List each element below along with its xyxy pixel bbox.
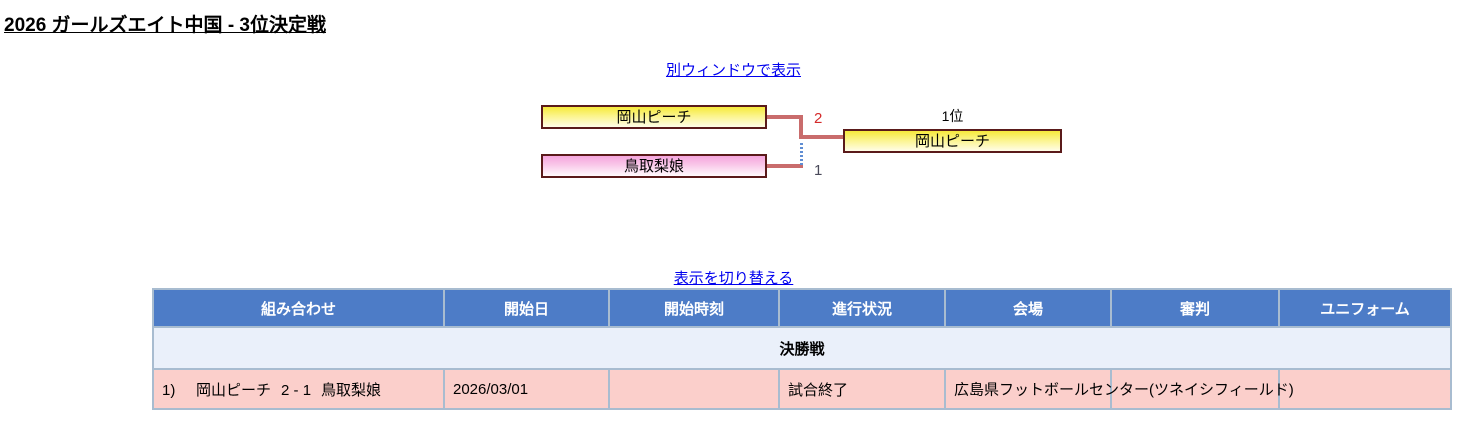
open-new-window-link-wrap: 別ウィンドウで表示 xyxy=(0,59,1467,80)
bracket-connector-top xyxy=(767,115,803,119)
cell-pairing: 1)岡山ピーチ2 - 1鳥取梨娘 xyxy=(154,370,443,408)
bracket-connector-bottom xyxy=(767,164,803,168)
column-header-pairing[interactable]: 組み合わせ xyxy=(154,290,443,326)
bracket-connector-middle xyxy=(799,135,843,139)
cell-start-date: 2026/03/01 xyxy=(445,370,608,408)
column-header-referee[interactable]: 審判 xyxy=(1112,290,1278,326)
table-section-row: 決勝戦 xyxy=(154,328,1450,368)
match-score: 2 - 1 xyxy=(271,382,321,399)
cell-status: 試合終了 xyxy=(780,370,944,408)
bracket-team-name-2: 鳥取梨娘 xyxy=(624,159,684,174)
table-header-row: 組み合わせ 開始日 開始時刻 進行状況 会場 審判 ユニフォーム xyxy=(154,290,1450,326)
match-results-table: 組み合わせ 開始日 開始時刻 進行状況 会場 審判 ユニフォーム 決勝戦 1)岡… xyxy=(152,288,1452,410)
page-title: 2026 ガールズエイト中国 - 3位決定戦 xyxy=(4,10,326,37)
column-header-status[interactable]: 進行状況 xyxy=(780,290,944,326)
toggle-display-link[interactable]: 表示を切り替える xyxy=(674,270,794,287)
bracket-team-box-1[interactable]: 岡山ピーチ xyxy=(541,105,767,129)
table-section-label: 決勝戦 xyxy=(154,328,1450,368)
bracket-rank-label: 1位 xyxy=(843,106,1062,126)
match-home-team: 岡山ピーチ xyxy=(196,379,271,400)
toggle-display-link-wrap: 表示を切り替える xyxy=(0,267,1467,288)
bracket-team-box-2[interactable]: 鳥取梨娘 xyxy=(541,154,767,178)
column-header-venue[interactable]: 会場 xyxy=(946,290,1110,326)
bracket-team-name-1: 岡山ピーチ xyxy=(616,110,691,125)
tournament-bracket: 岡山ピーチ 鳥取梨娘 2 1 1位 岡山ピーチ xyxy=(0,0,1467,260)
bracket-winner-name: 岡山ピーチ xyxy=(915,134,990,149)
bracket-score-winner: 2 xyxy=(814,111,822,126)
cell-start-time xyxy=(610,370,778,408)
column-header-start-date[interactable]: 開始日 xyxy=(445,290,608,326)
table-row[interactable]: 1)岡山ピーチ2 - 1鳥取梨娘 2026/03/01 試合終了 広島県フットボ… xyxy=(154,370,1450,408)
match-number: 1) xyxy=(162,382,196,399)
column-header-uniform[interactable]: ユニフォーム xyxy=(1280,290,1450,326)
bracket-winner-box[interactable]: 岡山ピーチ xyxy=(843,129,1062,153)
bracket-dotted-divider xyxy=(800,143,803,165)
cell-venue: 広島県フットボールセンター(ツネイシフィールド) xyxy=(946,370,1110,408)
column-header-start-time[interactable]: 開始時刻 xyxy=(610,290,778,326)
bracket-score-loser: 1 xyxy=(814,163,822,178)
venue-text: 広島県フットボールセンター(ツネイシフィールド) xyxy=(954,379,1294,400)
cell-uniform xyxy=(1280,370,1450,408)
match-away-team: 鳥取梨娘 xyxy=(321,379,381,400)
open-new-window-link[interactable]: 別ウィンドウで表示 xyxy=(666,62,801,79)
